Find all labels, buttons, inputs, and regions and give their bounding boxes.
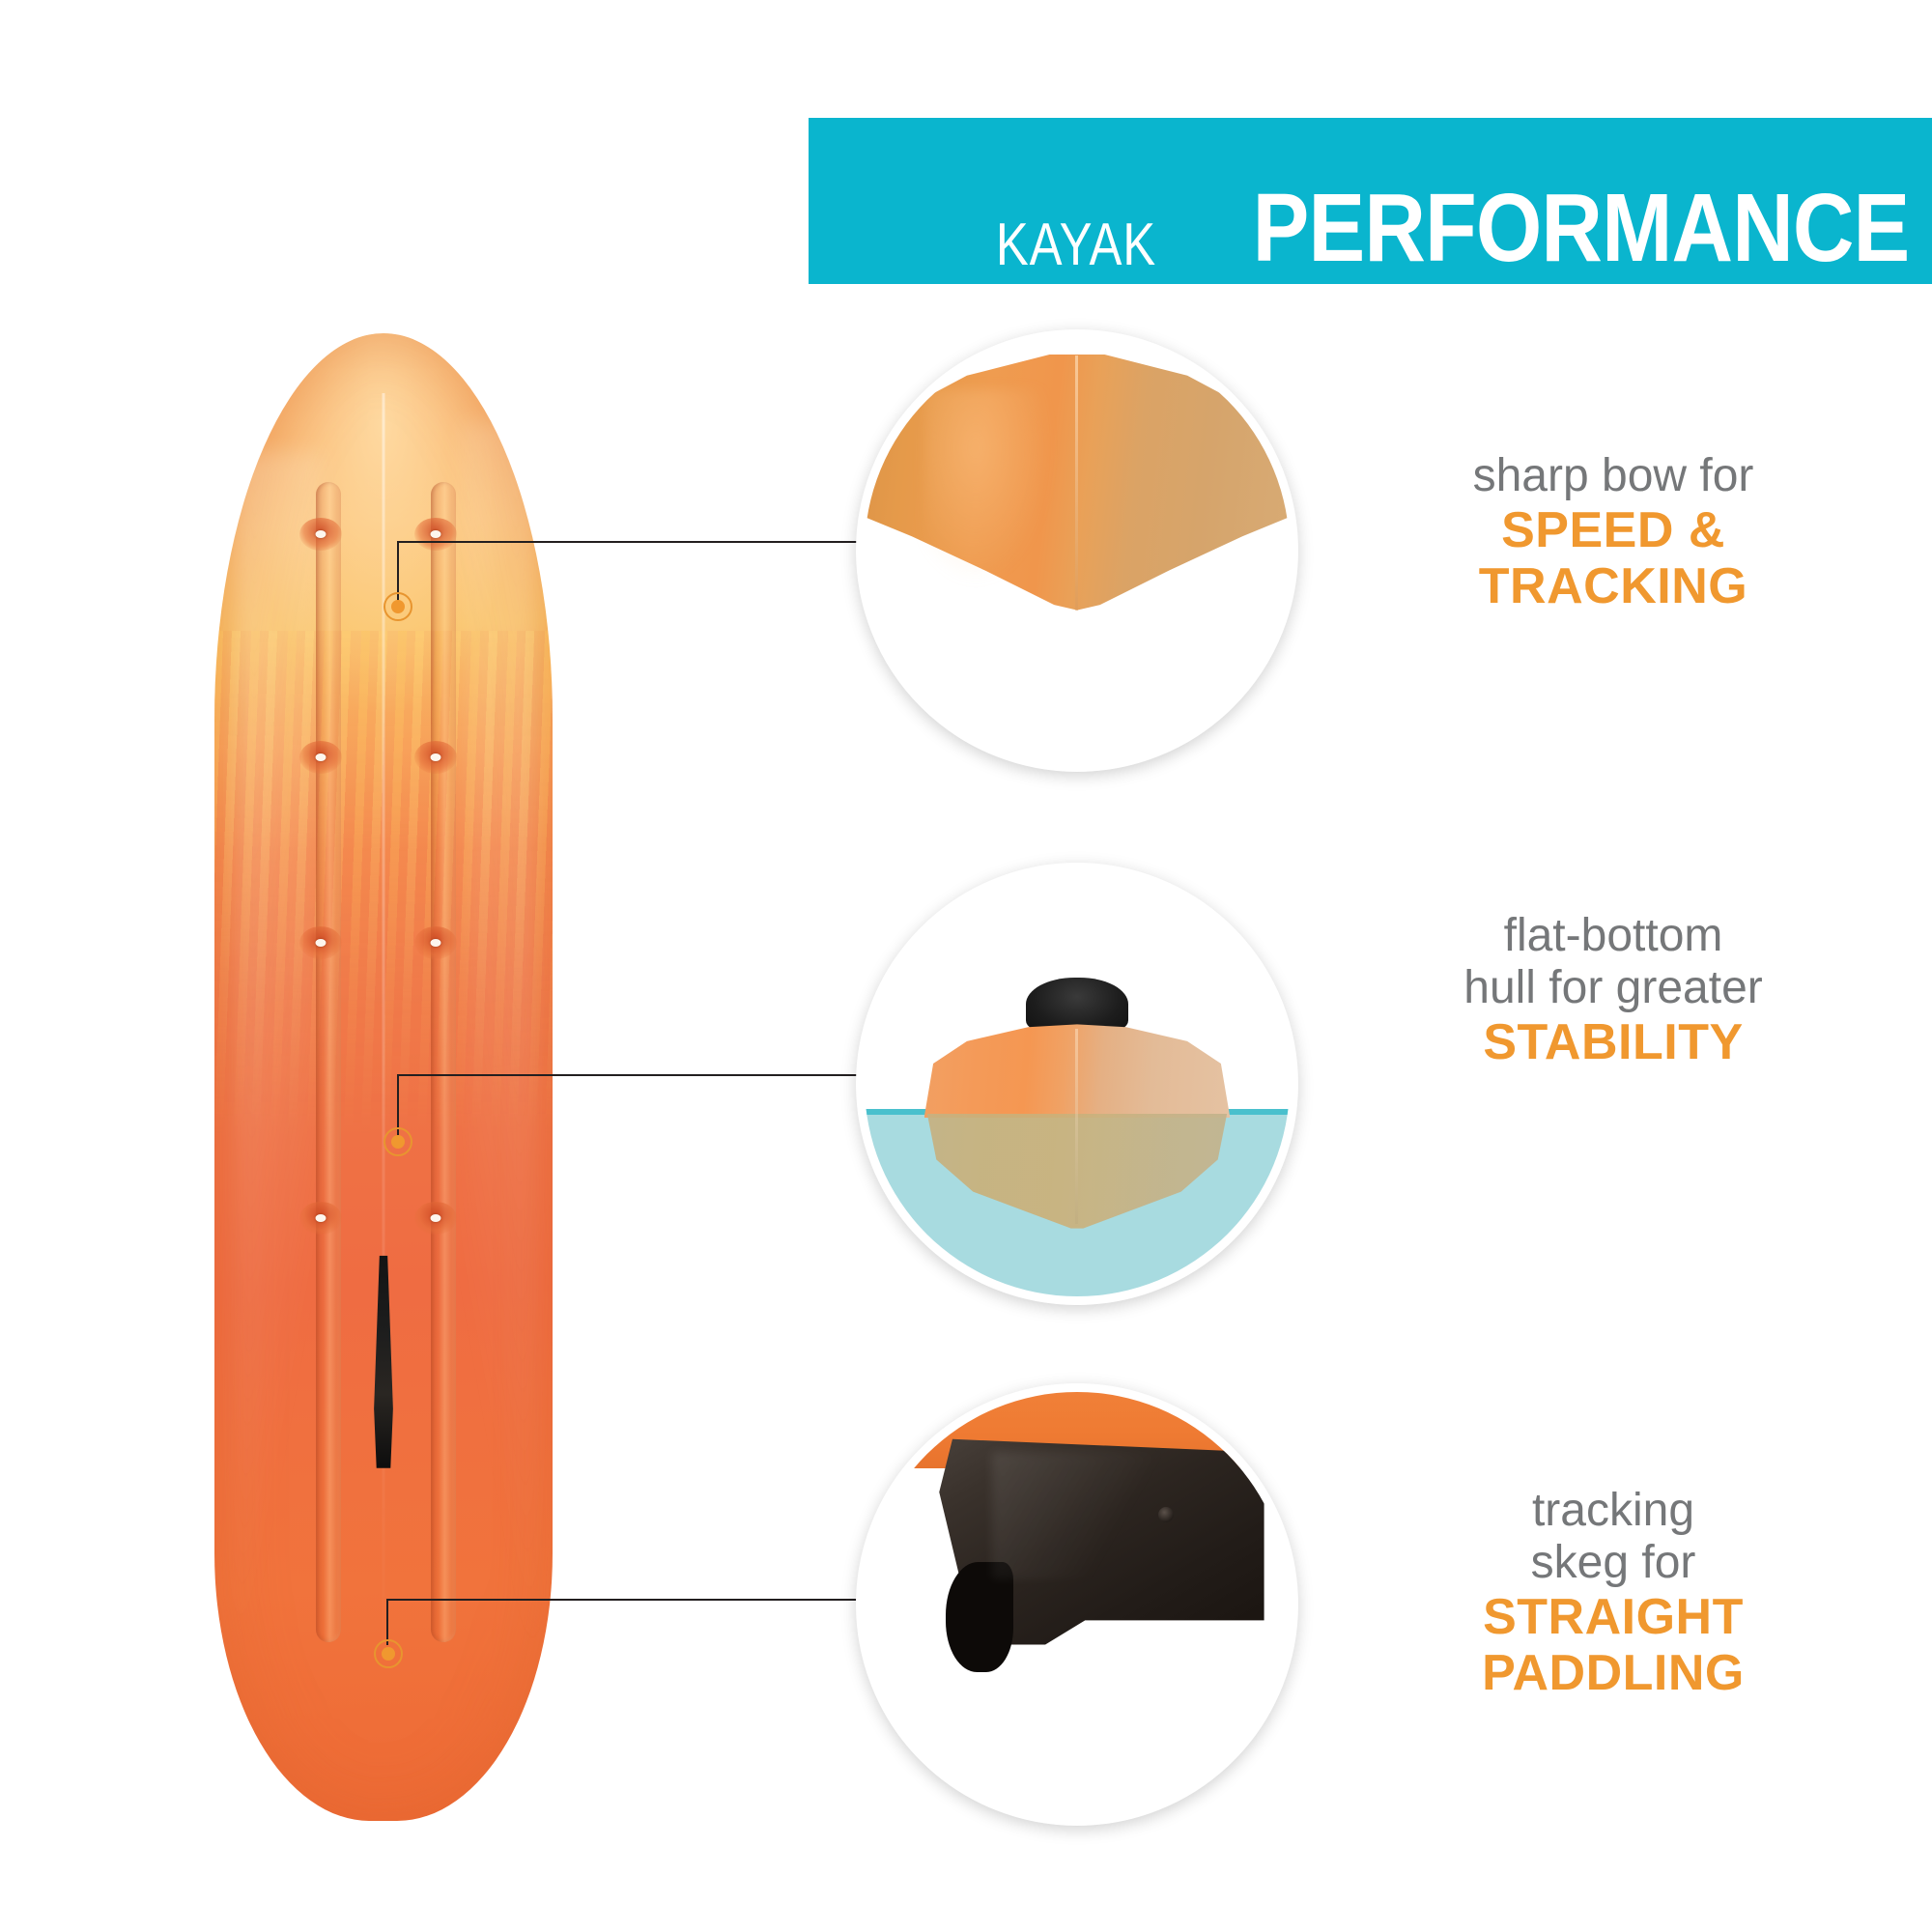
callout-lead-text: skeg for bbox=[1410, 1537, 1816, 1589]
kayak-hull-channel-right bbox=[431, 482, 456, 1642]
kayak-drain-hole bbox=[414, 1202, 457, 1235]
kayak-drain-hole bbox=[414, 518, 457, 551]
kayak-drain-hole bbox=[414, 926, 457, 959]
kayak-highlight-right bbox=[462, 422, 536, 1642]
callout-lead-text: sharp bow for bbox=[1410, 450, 1816, 502]
callout-marker-sharp-bow[interactable] bbox=[384, 592, 412, 621]
callout-emphasis-text: STRAIGHT bbox=[1410, 1589, 1816, 1645]
callout-lead-text: hull for greater bbox=[1410, 962, 1816, 1014]
callout-emphasis-text: STABILITY bbox=[1410, 1014, 1816, 1070]
kayak-bow-centre-ridge bbox=[1075, 355, 1078, 611]
header-title-light: KAYAK bbox=[996, 217, 1163, 274]
callout-emphasis-text: PADDLING bbox=[1410, 1645, 1816, 1701]
leader-vertical-segment bbox=[386, 1599, 388, 1645]
callout-lead-text: tracking bbox=[1410, 1485, 1816, 1537]
kayak-tracking-skeg bbox=[371, 1256, 396, 1468]
leader-horizontal-segment bbox=[397, 541, 859, 543]
callout-emphasis-text: SPEED & bbox=[1410, 502, 1816, 558]
kayak-highlight-left bbox=[235, 452, 323, 1642]
kayak-drain-hole bbox=[414, 741, 457, 774]
header-banner: KAYAK PERFORMANCE bbox=[809, 118, 1932, 284]
leader-horizontal-segment bbox=[397, 1074, 859, 1076]
kayak-bow-highlight bbox=[924, 389, 1052, 584]
leader-horizontal-segment bbox=[386, 1599, 859, 1601]
kayak-drain-hole bbox=[299, 518, 342, 551]
kayak-hull-channel-left bbox=[316, 482, 341, 1642]
callout-marker-tracking-skeg[interactable] bbox=[374, 1639, 403, 1668]
callout-image-tracking-skeg[interactable] bbox=[856, 1383, 1298, 1826]
kayak-skeg-highlight bbox=[992, 1452, 1171, 1579]
callout-emphasis-text: TRACKING bbox=[1410, 558, 1816, 614]
kayak-drain-hole bbox=[299, 741, 342, 774]
callout-label-sharp-bow: sharp bow for SPEED & TRACKING bbox=[1410, 450, 1816, 614]
kayak-drain-hole bbox=[299, 1202, 342, 1235]
callout-lead-text: flat-bottom bbox=[1410, 910, 1816, 962]
callout-label-tracking-skeg: tracking skeg for STRAIGHT PADDLING bbox=[1410, 1485, 1816, 1701]
kayak-hull-body bbox=[214, 333, 553, 1821]
callout-label-flat-bottom-hull: flat-bottom hull for greater STABILITY bbox=[1410, 910, 1816, 1070]
callout-image-sharp-bow[interactable] bbox=[856, 329, 1298, 772]
kayak-hull-centre-ridge bbox=[1075, 1029, 1078, 1224]
callout-image-flat-bottom-hull[interactable] bbox=[856, 863, 1298, 1305]
kayak-drain-hole bbox=[299, 926, 342, 959]
kayak-keel-seam bbox=[383, 393, 385, 1672]
callout-marker-flat-bottom-hull[interactable] bbox=[384, 1127, 412, 1156]
kayak-product-image bbox=[214, 333, 553, 1821]
header-title-bold: PERFORMANCE bbox=[1252, 183, 1909, 274]
